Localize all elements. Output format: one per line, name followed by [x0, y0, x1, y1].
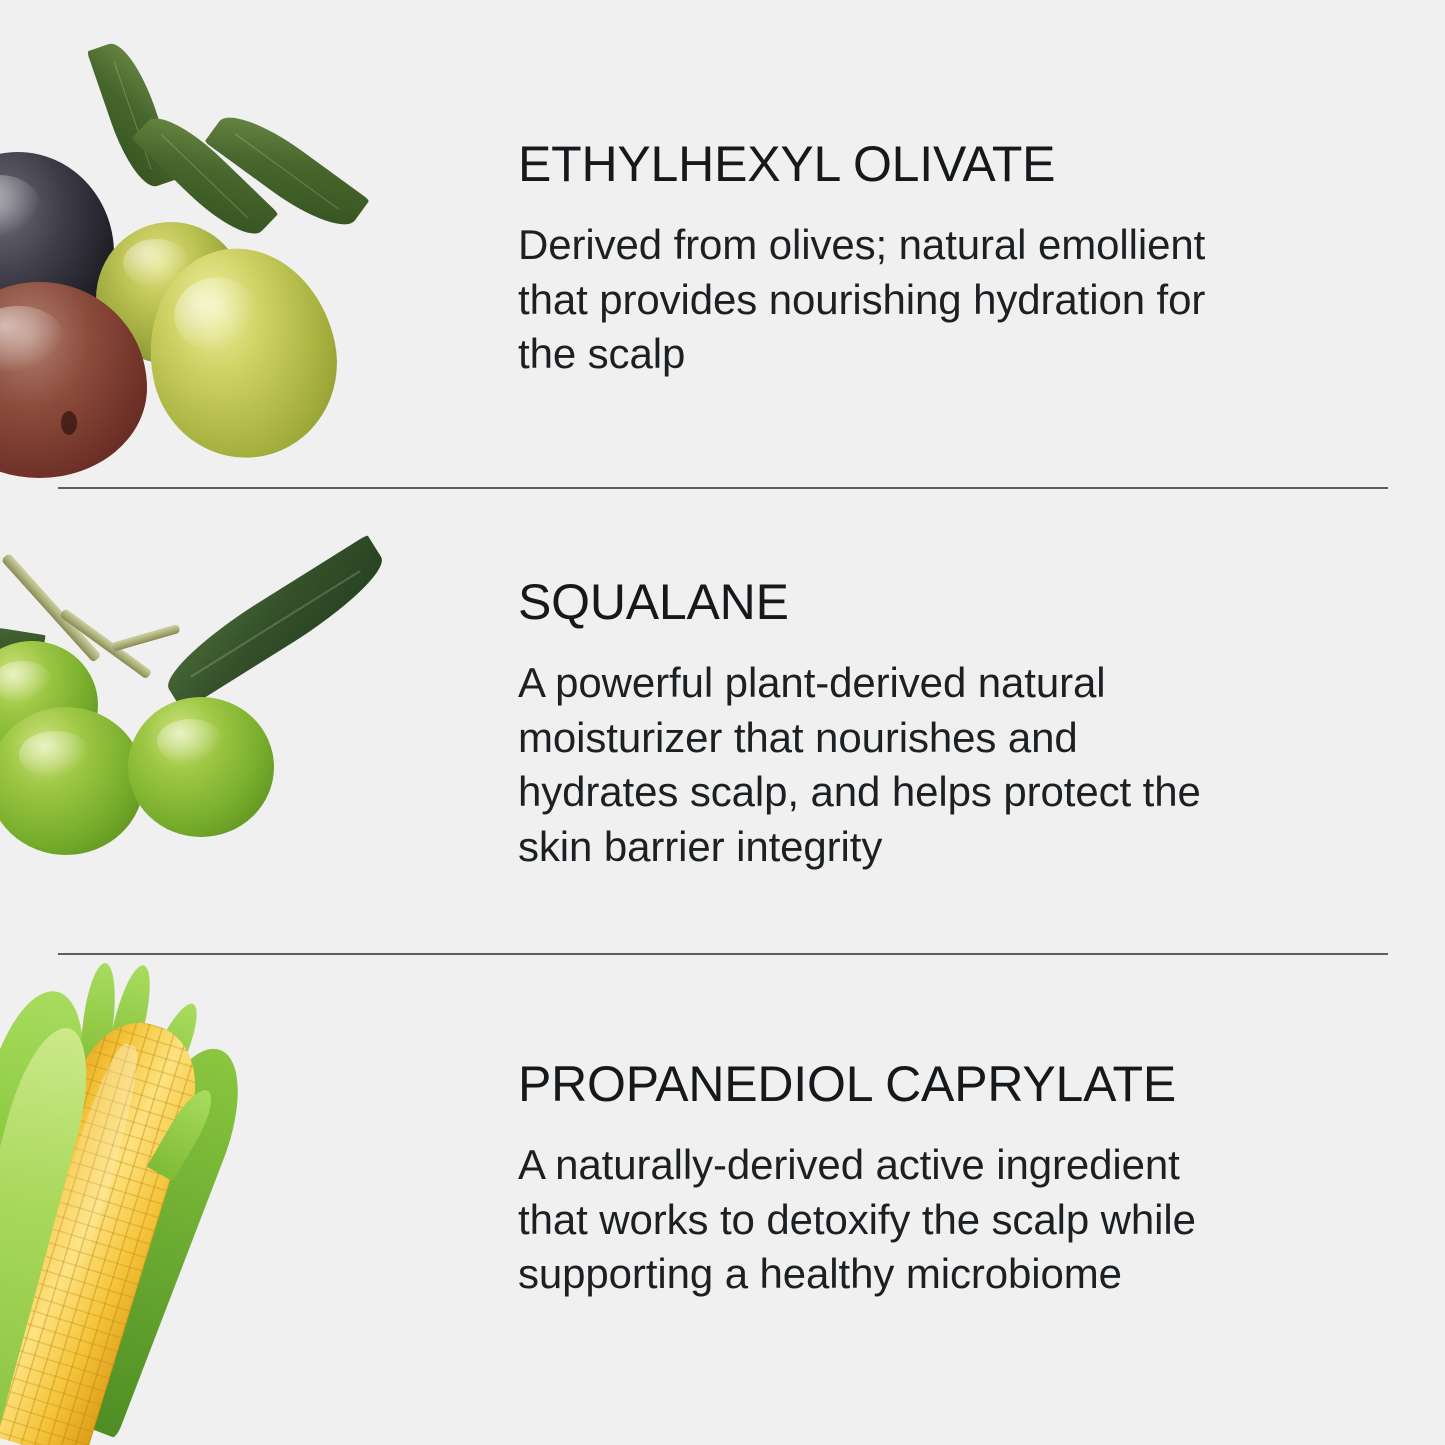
green-olive-icon — [0, 707, 144, 855]
ingredient-image-mixed-olives — [0, 0, 470, 488]
ingredient-description: Derived from olives; natural emollient t… — [518, 218, 1208, 382]
corn-illustration — [0, 956, 470, 1445]
ingredient-section-ethylhexyl-olivate: ETHYLHEXYL OLIVATE Derived from olives; … — [0, 0, 1445, 488]
ingredient-image-green-olives — [0, 489, 470, 955]
ingredient-title: PROPANEDIOL CAPRYLATE — [518, 1056, 1218, 1112]
ingredient-copy-block: SQUALANE A powerful plant-derived natura… — [518, 574, 1218, 874]
ingredient-copy-block: PROPANEDIOL CAPRYLATE A naturally-derive… — [518, 1056, 1218, 1302]
ingredient-section-squalane: SQUALANE A powerful plant-derived natura… — [0, 489, 1445, 955]
section-divider — [58, 953, 1388, 955]
ingredient-list-page: ETHYLHEXYL OLIVATE Derived from olives; … — [0, 0, 1445, 1445]
ingredient-description: A naturally-derived active ingredient th… — [518, 1138, 1208, 1302]
green-olives-illustration — [0, 489, 470, 955]
ingredient-description: A powerful plant-derived natural moistur… — [518, 656, 1208, 874]
olive-branch-stem — [111, 624, 181, 652]
ingredient-title: ETHYLHEXYL OLIVATE — [518, 136, 1218, 192]
olive-leaf-icon — [155, 535, 395, 712]
green-olive-icon — [128, 697, 274, 837]
ingredient-copy-block: ETHYLHEXYL OLIVATE Derived from olives; … — [518, 136, 1218, 382]
mixed-olives-illustration — [0, 0, 470, 488]
ingredient-image-corn — [0, 956, 470, 1445]
ingredient-title: SQUALANE — [518, 574, 1218, 630]
ingredient-section-propanediol-caprylate: PROPANEDIOL CAPRYLATE A naturally-derive… — [0, 956, 1445, 1445]
